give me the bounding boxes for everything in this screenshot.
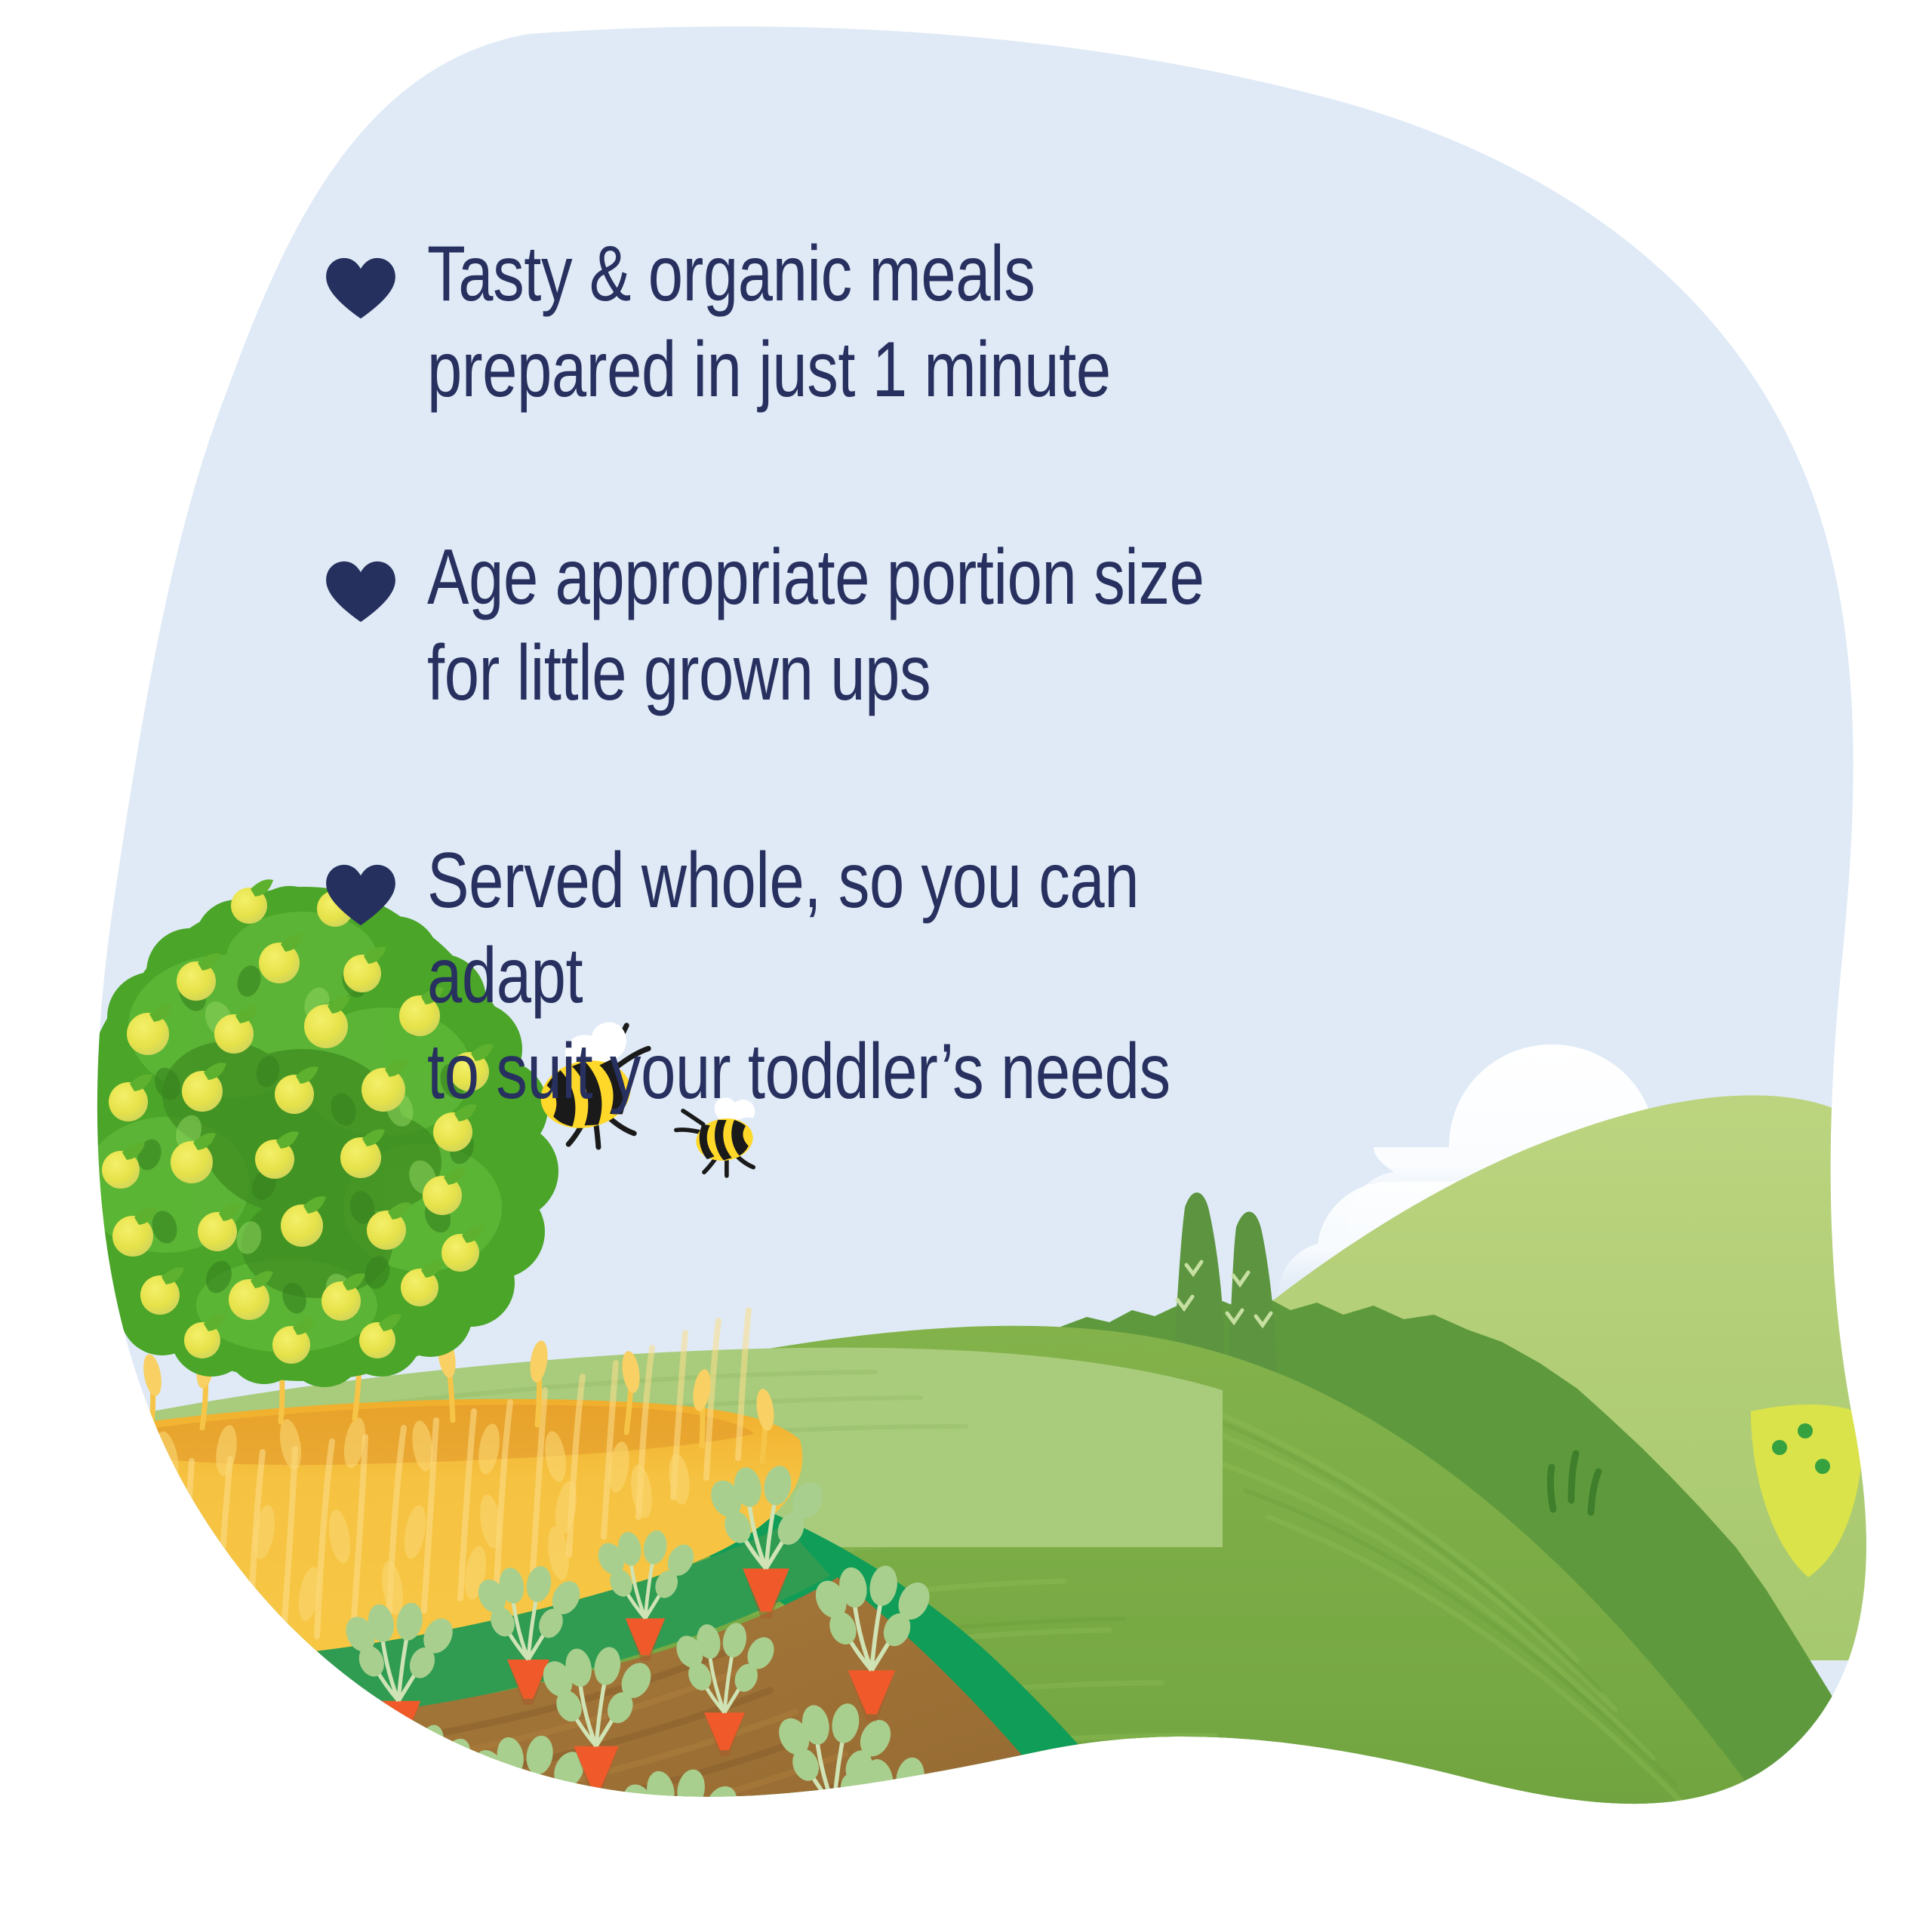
- benefit-item-1: Tasty & organic meals prepared in just 1…: [325, 226, 1502, 418]
- heart-icon: [325, 560, 397, 625]
- benefit-item-3: Served whole, so you can adapt to suit y…: [325, 833, 1502, 1121]
- benefit-item-2: Age appropriate portion size for little …: [325, 530, 1502, 721]
- benefit-text-1: Tasty & organic meals prepared in just 1…: [427, 226, 1111, 418]
- benefit-text-3: Served whole, so you can adapt to suit y…: [427, 833, 1287, 1121]
- benefit-text-2: Age appropriate portion size for little …: [427, 530, 1204, 721]
- heart-icon: [325, 257, 397, 321]
- heart-icon: [325, 863, 397, 928]
- illustration-canvas: Tasty & organic meals prepared in just 1…: [0, 0, 1932, 1932]
- benefits-list: Tasty & organic meals prepared in just 1…: [325, 226, 1502, 1232]
